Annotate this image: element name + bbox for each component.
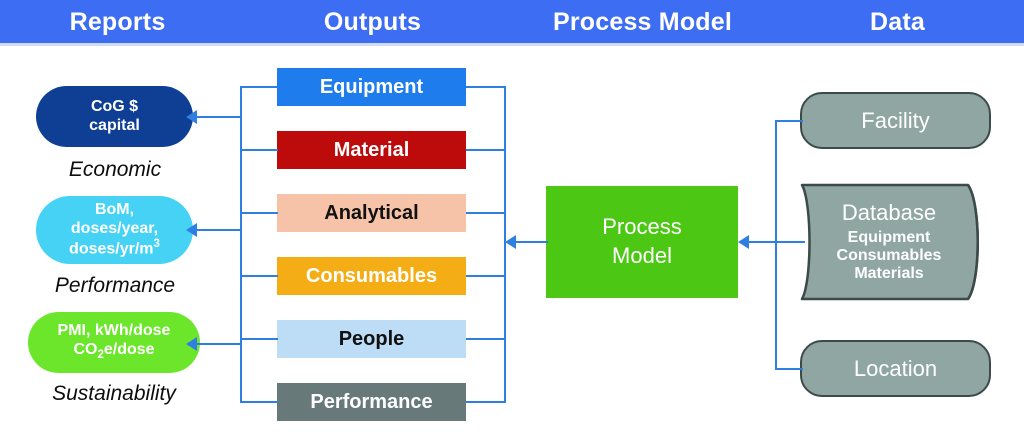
- report-category-performance: Performance: [26, 274, 204, 298]
- connector-process-to-outputs-line: [516, 241, 548, 243]
- connector-right-stub-people: [466, 338, 506, 340]
- header-underline: [0, 43, 1024, 46]
- report-performance-line3-text: doses/yr/m: [69, 240, 153, 257]
- output-box-analytical[interactable]: Analytical: [277, 194, 466, 232]
- data-shape-database[interactable]: Database Equipment Consumables Materials: [800, 183, 991, 301]
- report-performance-line3: doses/yr/m3: [69, 238, 160, 259]
- database-title: Database: [842, 201, 936, 226]
- database-line-materials: Materials: [854, 265, 923, 283]
- database-labels: Database Equipment Consumables Materials: [804, 183, 974, 301]
- process-model-line2: Model: [612, 242, 672, 271]
- report-sustainability-line2: CO2e/dose: [73, 341, 154, 363]
- connector-left-stub-analytical: [240, 212, 278, 214]
- connector-right-stub-performance: [466, 401, 506, 403]
- connector-arrowhead-performance: [186, 223, 197, 237]
- column-header-outputs: Outputs: [275, 7, 470, 37]
- connector-left-stub-consumables: [240, 275, 278, 277]
- connector-left-bus: [240, 86, 242, 402]
- connector-data-to-process-line: [749, 241, 777, 243]
- connector-right-stub-equipment: [466, 86, 506, 88]
- column-header-reports: Reports: [20, 7, 215, 37]
- output-box-performance[interactable]: Performance: [277, 383, 466, 421]
- connector-left-stub-people: [240, 338, 278, 340]
- report-performance-line2: doses/year,: [71, 220, 158, 239]
- connector-data-stub-location: [775, 368, 803, 370]
- output-box-people[interactable]: People: [277, 320, 466, 358]
- connector-arrow-line-sustainability: [197, 343, 242, 345]
- diagram-canvas: Reports Outputs Process Model Data CoG $…: [0, 0, 1024, 434]
- process-model-box[interactable]: Process Model: [546, 186, 738, 298]
- report-pill-sustainability[interactable]: PMI, kWh/dose CO2e/dose: [28, 312, 200, 373]
- connector-left-stub-equipment: [240, 86, 278, 88]
- column-header-data: Data: [800, 7, 995, 37]
- report-pill-economic[interactable]: CoG $ capital: [36, 86, 193, 147]
- data-shape-location[interactable]: Location: [800, 340, 991, 397]
- connector-left-stub-material: [240, 149, 278, 151]
- connector-arrowhead-sustainability: [186, 337, 197, 351]
- connector-data-stub-facility: [775, 120, 803, 122]
- connector-arrowhead-process-model: [738, 235, 749, 249]
- column-header-process-model: Process Model: [520, 7, 765, 37]
- connector-data-stub-database: [775, 241, 805, 243]
- report-economic-line2: capital: [89, 117, 140, 136]
- report-sustainability-line1: PMI, kWh/dose: [58, 322, 171, 341]
- report-sustainability-co2-text: CO: [73, 341, 97, 358]
- connector-arrowhead-outputs: [505, 235, 516, 249]
- connector-data-bus: [775, 120, 777, 369]
- output-box-consumables[interactable]: Consumables: [277, 257, 466, 295]
- output-box-material[interactable]: Material: [277, 131, 466, 169]
- report-economic-line1: CoG $: [91, 98, 138, 117]
- output-box-equipment[interactable]: Equipment: [277, 68, 466, 106]
- report-performance-line1: BoM,: [95, 201, 134, 220]
- report-performance-line3-exponent: 3: [154, 238, 160, 250]
- data-shape-facility[interactable]: Facility: [800, 92, 991, 149]
- report-category-sustainability: Sustainability: [18, 382, 210, 406]
- connector-arrow-line-performance: [197, 229, 242, 231]
- connector-right-stub-analytical: [466, 212, 506, 214]
- connector-right-stub-material: [466, 149, 506, 151]
- connector-arrow-line-economic: [197, 116, 242, 118]
- process-model-line1: Process: [602, 213, 681, 242]
- report-category-economic: Economic: [26, 158, 204, 182]
- database-line-equipment: Equipment: [848, 229, 931, 247]
- connector-arrowhead-economic: [186, 110, 197, 124]
- report-pill-performance[interactable]: BoM, doses/year, doses/yr/m3: [36, 196, 193, 264]
- connector-right-stub-consumables: [466, 275, 506, 277]
- database-line-consumables: Consumables: [837, 247, 942, 265]
- report-sustainability-line2-suffix: e/dose: [104, 341, 155, 358]
- connector-left-stub-performance: [240, 401, 278, 403]
